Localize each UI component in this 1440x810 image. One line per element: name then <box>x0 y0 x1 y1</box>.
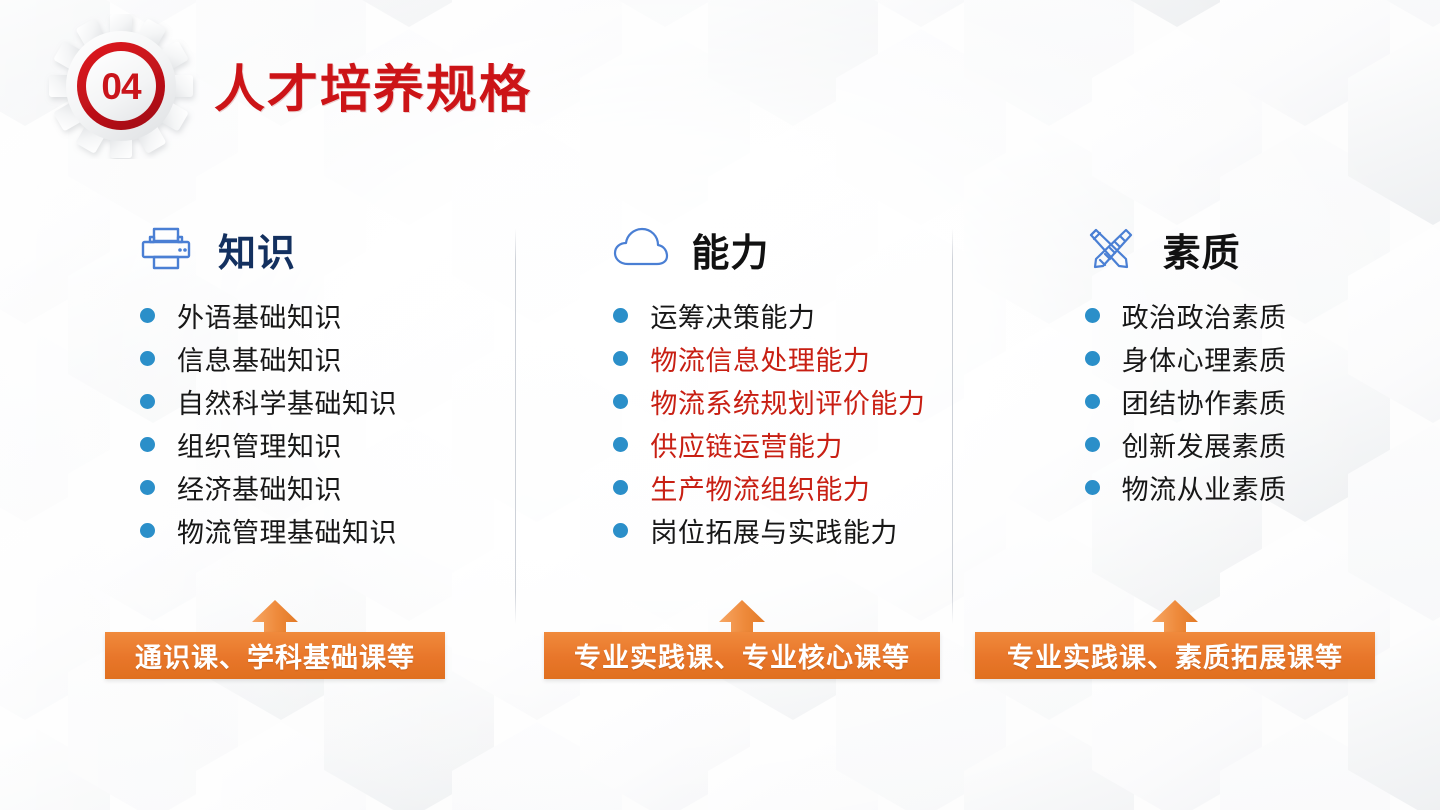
list-item-label: 自然科学基础知识 <box>177 382 397 421</box>
bullet-list-ability: 运筹决策能力 物流信息处理能力 物流系统规划评价能力 供应链运营能力 生产物流组… <box>613 294 968 552</box>
list-item-label: 外语基础知识 <box>177 296 342 335</box>
list-item: 物流信息处理能力 <box>613 337 968 380</box>
printer-icon <box>140 222 200 276</box>
list-item-label: 生产物流组织能力 <box>650 468 870 507</box>
column-header-quality: 素质 <box>1085 218 1440 280</box>
cloud-icon <box>613 222 673 276</box>
bullet-dot-icon <box>140 437 155 452</box>
banner-label: 专业实践课、素质拓展课等 <box>1007 636 1343 675</box>
column-header-ability: 能力 <box>613 218 968 280</box>
bullet-dot-icon <box>613 351 628 366</box>
list-item-label: 政治政治素质 <box>1122 296 1287 335</box>
bullet-list-quality: 政治政治素质 身体心理素质 团结协作素质 创新发展素质 物流从业素质 <box>1085 294 1440 509</box>
banner-ability[interactable]: 专业实践课、专业核心课等 <box>544 632 940 679</box>
list-item-label: 身体心理素质 <box>1122 339 1287 378</box>
list-item-label: 物流从业素质 <box>1122 468 1287 507</box>
gear-badge: 04 <box>42 14 200 159</box>
list-item-label: 经济基础知识 <box>177 468 342 507</box>
list-item: 身体心理素质 <box>1085 337 1440 380</box>
list-item: 运筹决策能力 <box>613 294 968 337</box>
slide-root: 04 人才培养规格 <box>0 0 1440 810</box>
column-knowledge: 知识 外语基础知识 信息基础知识 自然科学基础知识 组织管理知识 <box>0 218 495 638</box>
list-item: 外语基础知识 <box>140 294 495 337</box>
list-item: 信息基础知识 <box>140 337 495 380</box>
bullet-dot-icon <box>1085 351 1100 366</box>
banner-label: 专业实践课、专业核心课等 <box>574 636 910 675</box>
list-item-label: 创新发展素质 <box>1122 425 1287 464</box>
list-item: 物流管理基础知识 <box>140 509 495 552</box>
column-quality: 素质 政治政治素质 身体心理素质 团结协作素质 创新发展素质 <box>969 218 1440 638</box>
page-title: 人才培养规格 <box>214 48 532 122</box>
banner-knowledge[interactable]: 通识课、学科基础课等 <box>105 632 445 679</box>
bullet-dot-icon <box>613 308 628 323</box>
bullet-dot-icon <box>613 437 628 452</box>
list-item: 政治政治素质 <box>1085 294 1440 337</box>
list-item-label: 运筹决策能力 <box>650 296 815 335</box>
bullet-dot-icon <box>140 394 155 409</box>
column-title-quality: 素质 <box>1163 222 1241 277</box>
up-arrow-icon <box>252 600 298 636</box>
list-item-label: 团结协作素质 <box>1122 382 1287 421</box>
bullet-dot-icon <box>1085 437 1100 452</box>
list-item: 供应链运营能力 <box>613 423 968 466</box>
column-title-knowledge: 知识 <box>218 222 296 277</box>
list-item-label: 物流系统规划评价能力 <box>650 382 925 421</box>
column-title-ability: 能力 <box>691 222 769 277</box>
section-number: 04 <box>42 14 200 159</box>
bullet-dot-icon <box>613 523 628 538</box>
bullet-dot-icon <box>1085 480 1100 495</box>
list-item: 创新发展素质 <box>1085 423 1440 466</box>
bullet-dot-icon <box>613 394 628 409</box>
banner-quality[interactable]: 专业实践课、素质拓展课等 <box>975 632 1375 679</box>
bullet-dot-icon <box>140 351 155 366</box>
list-item: 自然科学基础知识 <box>140 380 495 423</box>
list-item-label: 物流管理基础知识 <box>177 511 397 550</box>
bullet-dot-icon <box>140 523 155 538</box>
pencil-ruler-icon <box>1085 222 1145 276</box>
column-header-knowledge: 知识 <box>140 218 495 280</box>
list-item: 物流系统规划评价能力 <box>613 380 968 423</box>
up-arrow-icon <box>1152 600 1198 636</box>
banner-label: 通识课、学科基础课等 <box>135 636 415 675</box>
bullet-dot-icon <box>140 308 155 323</box>
up-arrow-icon <box>719 600 765 636</box>
slide-header: 04 人才培养规格 <box>0 0 1440 170</box>
content-columns: 知识 外语基础知识 信息基础知识 自然科学基础知识 组织管理知识 <box>0 218 1440 638</box>
bullet-dot-icon <box>1085 308 1100 323</box>
bullet-dot-icon <box>613 480 628 495</box>
list-item: 物流从业素质 <box>1085 466 1440 509</box>
list-item: 生产物流组织能力 <box>613 466 968 509</box>
bullet-dot-icon <box>1085 394 1100 409</box>
bullet-list-knowledge: 外语基础知识 信息基础知识 自然科学基础知识 组织管理知识 经济基础知识 <box>140 294 495 552</box>
list-item: 经济基础知识 <box>140 466 495 509</box>
list-item-label: 组织管理知识 <box>177 425 342 464</box>
list-item: 团结协作素质 <box>1085 380 1440 423</box>
column-ability: 能力 运筹决策能力 物流信息处理能力 物流系统规划评价能力 供应链运营能力 <box>495 218 968 638</box>
list-item: 组织管理知识 <box>140 423 495 466</box>
list-item-label: 供应链运营能力 <box>650 425 843 464</box>
list-item-label: 信息基础知识 <box>177 339 342 378</box>
course-banners: 通识课、学科基础课等 专业实践课、专业核心课等 <box>0 600 1440 700</box>
list-item-label: 物流信息处理能力 <box>650 339 870 378</box>
bullet-dot-icon <box>140 480 155 495</box>
list-item-label: 岗位拓展与实践能力 <box>650 511 898 550</box>
list-item: 岗位拓展与实践能力 <box>613 509 968 552</box>
